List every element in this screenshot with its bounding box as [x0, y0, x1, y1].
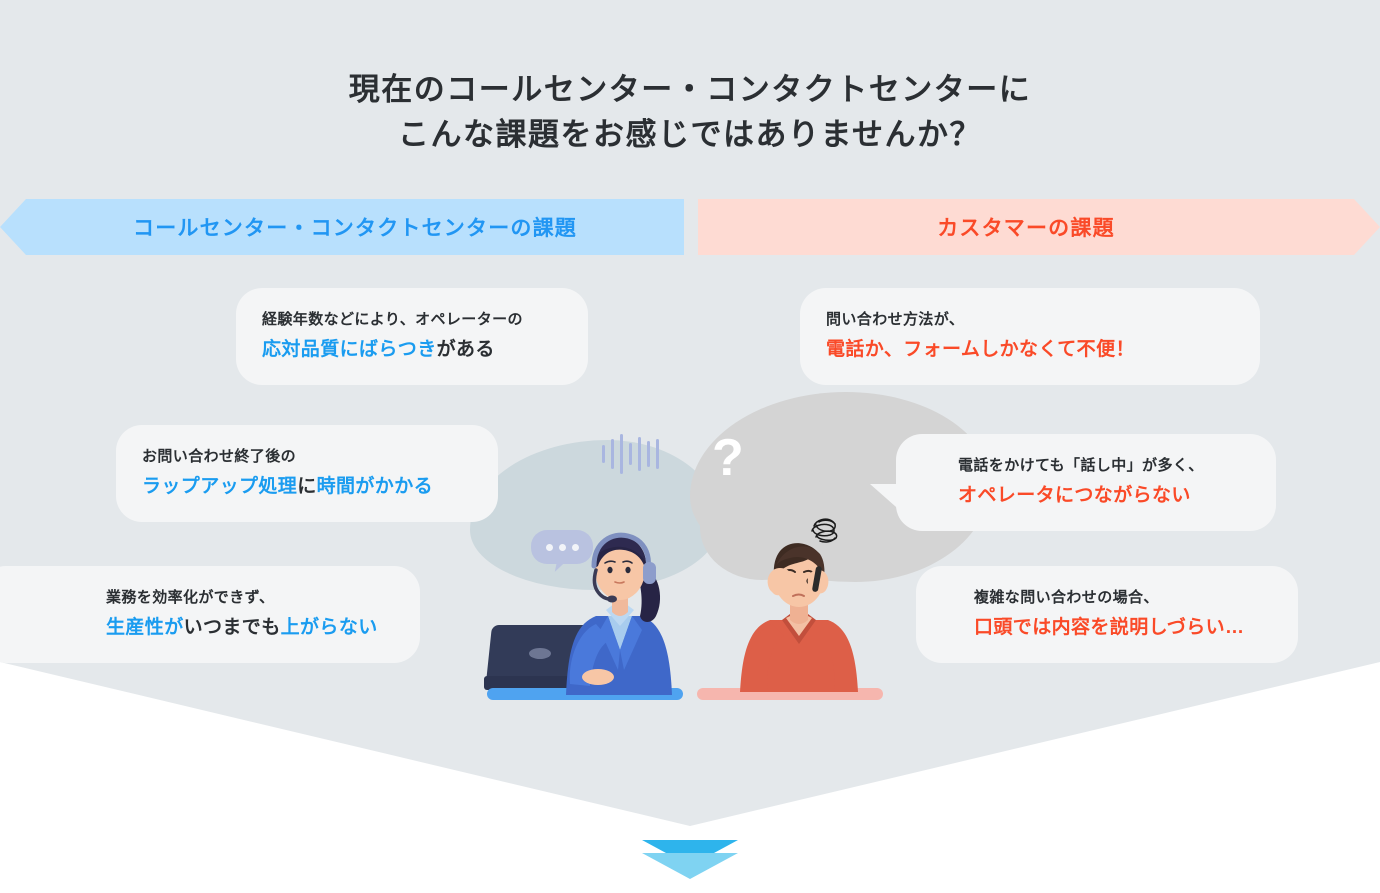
chat-dot: [546, 544, 553, 551]
issue-line1: 電話をかけても「話し中」が多く、: [922, 454, 1250, 477]
scroll-down-chevrons[interactable]: [0, 826, 1380, 893]
issue-line1: 経験年数などにより、オペレーターの: [262, 308, 562, 331]
issue-plain: がある: [437, 339, 495, 360]
issue-highlight: 生産性が: [106, 617, 184, 638]
banner-callcenter-issues: コールセンター・コンタクトセンターの課題: [0, 199, 684, 255]
issue-line1: お問い合わせ終了後の: [142, 445, 472, 468]
issue-line2: 応対品質にばらつきがある: [262, 335, 562, 364]
hero-panel: 現在のコールセンター・コンタクトセンターに こんな課題をお感じではありませんか？…: [0, 0, 1380, 826]
issue-plain: に: [297, 476, 316, 497]
chevron-down-icon-bottom: [642, 853, 738, 879]
issue-highlight: 電話か、フォームしかなくて不便！: [826, 339, 1135, 360]
banner-customer-issues: カスタマーの課題: [698, 199, 1380, 255]
issue-highlight: ラップアップ処理: [142, 476, 297, 497]
thought-cloud-tail: [790, 400, 824, 428]
issue-bubble-right-2: 電話をかけても「話し中」が多く、 オペレータにつながらない: [896, 434, 1276, 531]
issue-line1: 業務を効率化ができず、: [6, 586, 394, 609]
issue-line1: 問い合わせ方法が、: [826, 308, 1234, 331]
waveform-bar: [656, 439, 659, 469]
issue-line2: オペレータにつながらない: [922, 481, 1250, 510]
waveform-bar: [629, 443, 632, 465]
page-title-line2: こんな課題をお感じではありませんか？: [0, 113, 1380, 158]
banner-customer-label: カスタマーの課題: [937, 212, 1115, 242]
issue-highlight: 応対品質にばらつき: [262, 339, 437, 360]
laptop-logo: [529, 648, 551, 659]
issue-bubble-right-1: 問い合わせ方法が、 電話か、フォームしかなくて不便！: [800, 288, 1260, 385]
waveform-bar: [620, 434, 623, 474]
issue-line2: 生産性がいつまでも上がらない: [6, 613, 394, 642]
issue-line2: 口頭では内容を説明しづらい…: [942, 613, 1272, 642]
waveform-bar: [647, 441, 650, 467]
issue-highlight-2: 上がらない: [281, 617, 378, 638]
issue-line2: 電話か、フォームしかなくて不便！: [826, 335, 1234, 364]
issue-bubble-right-3: 複雑な問い合わせの場合、 口頭では内容を説明しづらい…: [916, 566, 1298, 663]
issue-highlight: オペレータにつながらない: [958, 485, 1191, 506]
voice-waveform-icon: [602, 430, 659, 478]
issue-bubble-left-1: 経験年数などにより、オペレーターの 応対品質にばらつきがある: [236, 288, 588, 385]
issue-bubble-left-3: 業務を効率化ができず、 生産性がいつまでも上がらない: [0, 566, 420, 663]
question-mark-icon: ?: [712, 432, 744, 484]
customer-illustration: [730, 532, 870, 692]
issue-line1: 複雑な問い合わせの場合、: [942, 586, 1272, 609]
issue-bubble-left-2: お問い合わせ終了後の ラップアップ処理に時間がかかる: [116, 425, 498, 522]
banner-callcenter-label: コールセンター・コンタクトセンターの課題: [133, 212, 577, 242]
page-title: 現在のコールセンター・コンタクトセンターに こんな課題をお感じではありませんか？: [0, 68, 1380, 158]
issue-highlight: 口頭では内容を説明しづらい…: [974, 617, 1244, 638]
issue-highlight-2: 時間がかかる: [317, 476, 433, 497]
waveform-bar: [611, 439, 614, 469]
page-title-line1: 現在のコールセンター・コンタクトセンターに: [349, 72, 1032, 107]
issue-plain: いつまでも: [184, 617, 281, 638]
waveform-bar: [602, 445, 605, 463]
issue-line2: ラップアップ処理に時間がかかる: [142, 472, 472, 501]
operator-illustration: [560, 520, 690, 695]
waveform-bar: [638, 437, 641, 471]
